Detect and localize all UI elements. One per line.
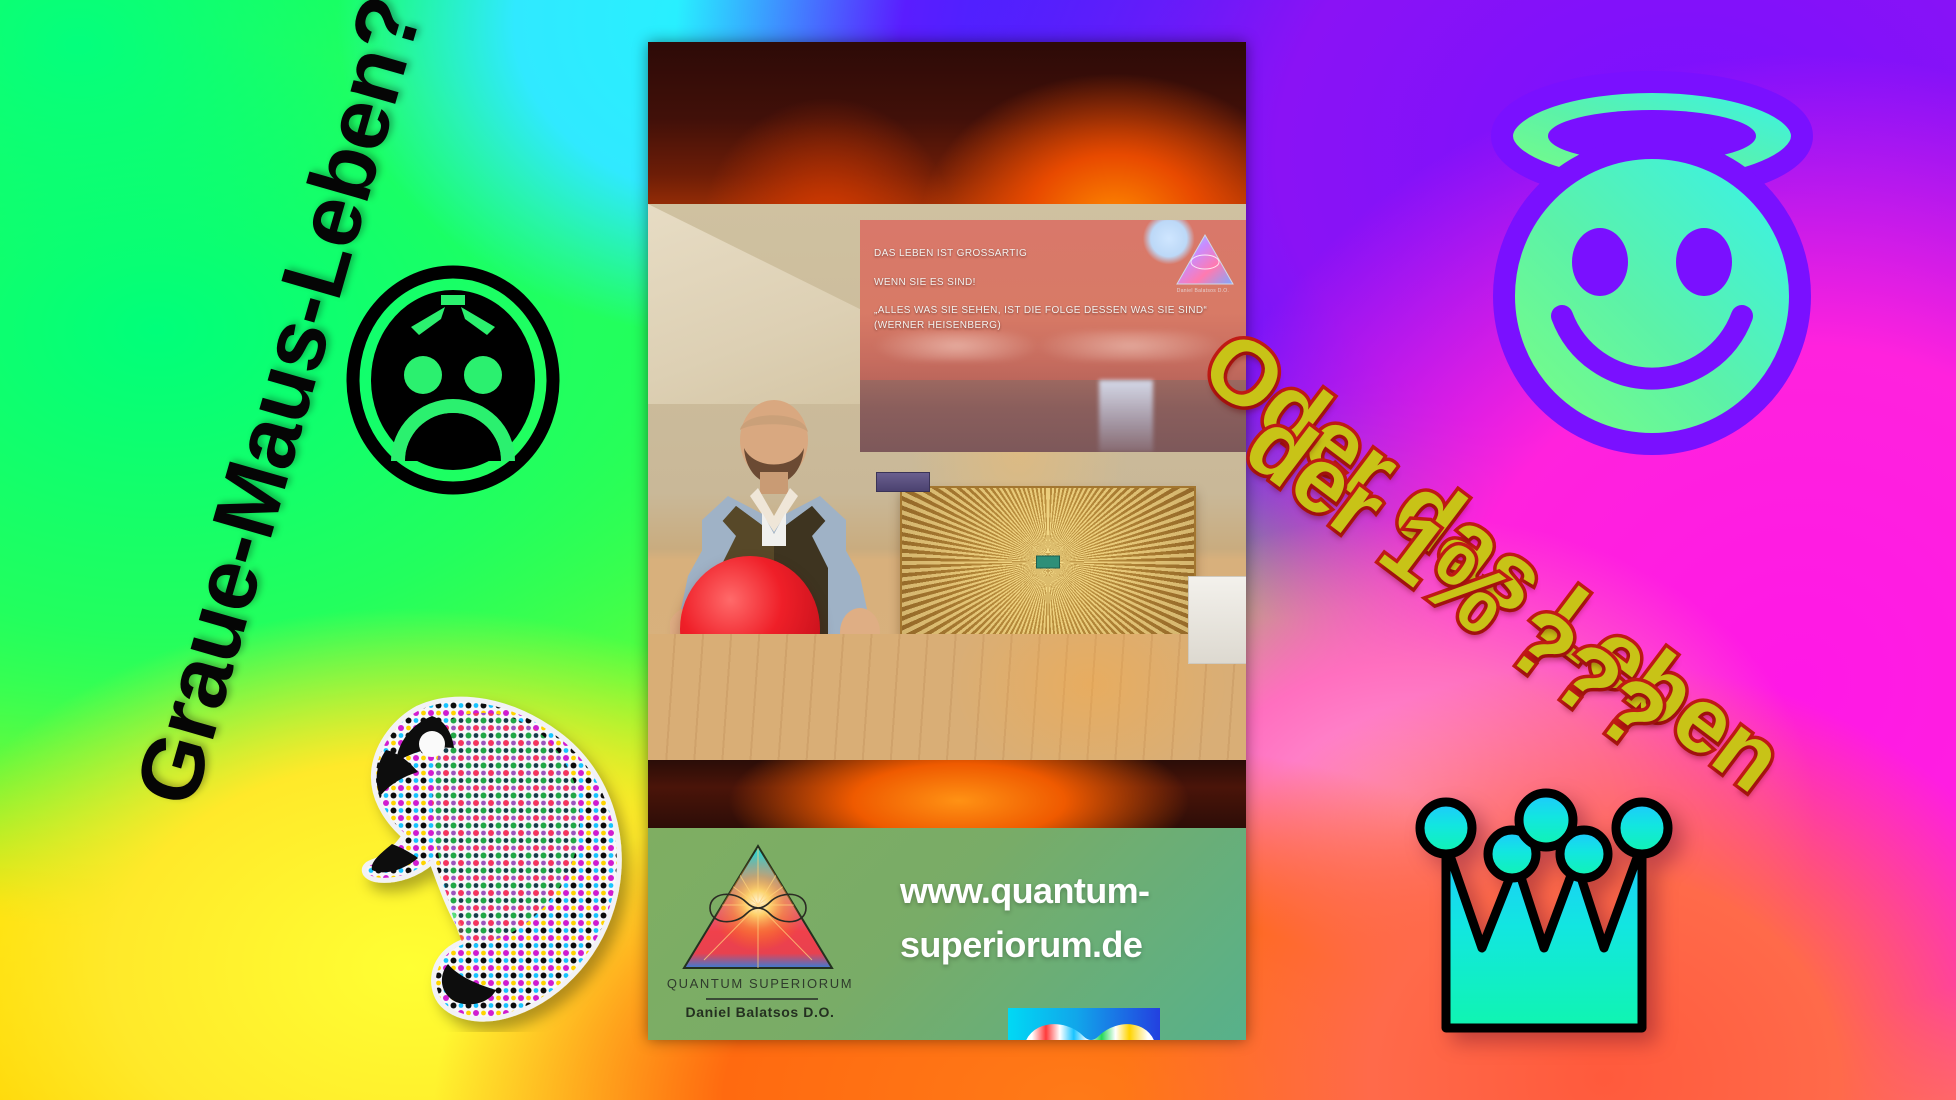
- logo-divider: [706, 998, 818, 1000]
- slide-quote: „ALLES WAS SIE SEHEN, IST DIE FOLGE DESS…: [874, 305, 1238, 318]
- sideboard-handle: [1036, 556, 1060, 569]
- card-photo: DAS LEBEN IST GROSSARTIG WENN SIE ES SIN…: [648, 42, 1246, 828]
- room-scene: DAS LEBEN IST GROSSARTIG WENN SIE ES SIN…: [648, 204, 1246, 760]
- polka-dot-mouse-icon: [300, 672, 640, 1032]
- white-furniture-box: [1188, 576, 1246, 664]
- thumbnail-canvas: Graue-Maus-Leben?: [0, 0, 1956, 1100]
- logo-title: QUANTUM SUPERIORUM: [662, 976, 858, 991]
- sky-band-top: [648, 42, 1246, 212]
- triangle-infinity-logo-icon: [680, 842, 836, 974]
- infinity-icon: [1008, 1008, 1160, 1040]
- projected-slide: DAS LEBEN IST GROSSARTIG WENN SIE ES SIN…: [860, 220, 1246, 452]
- sideboard: [900, 486, 1196, 638]
- slide-logo-caption: Daniel Balatsos D.O.: [1166, 288, 1240, 294]
- website-line-1: www.quantum-: [900, 864, 1220, 918]
- slide-attribution: (WERNER HEISENBERG): [874, 320, 1238, 333]
- wooden-floor: [648, 634, 1246, 760]
- angel-smiley-icon: [1452, 58, 1852, 458]
- sad-face-icon: [345, 265, 561, 495]
- video-thumbnail-card[interactable]: DAS LEBEN IST GROSSARTIG WENN SIE ES SIN…: [648, 42, 1246, 1040]
- sideboard-box: [876, 472, 930, 492]
- crown-icon: [1394, 752, 1704, 1052]
- card-footer-band: QUANTUM SUPERIORUM Daniel Balatsos D.O. …: [648, 828, 1246, 1040]
- website-line-2: superiorum.de: [900, 918, 1220, 972]
- sky-band-bottom: [648, 760, 1246, 828]
- slide-sun-reflection: [1099, 380, 1153, 452]
- infinity-badge: [1008, 1008, 1160, 1040]
- slide-triangle-logo-icon: [1174, 232, 1236, 288]
- slide-clouds: [860, 331, 1246, 361]
- logo-subtitle: Daniel Balatsos D.O.: [662, 1004, 858, 1020]
- website-url[interactable]: www.quantum- superiorum.de: [900, 864, 1220, 972]
